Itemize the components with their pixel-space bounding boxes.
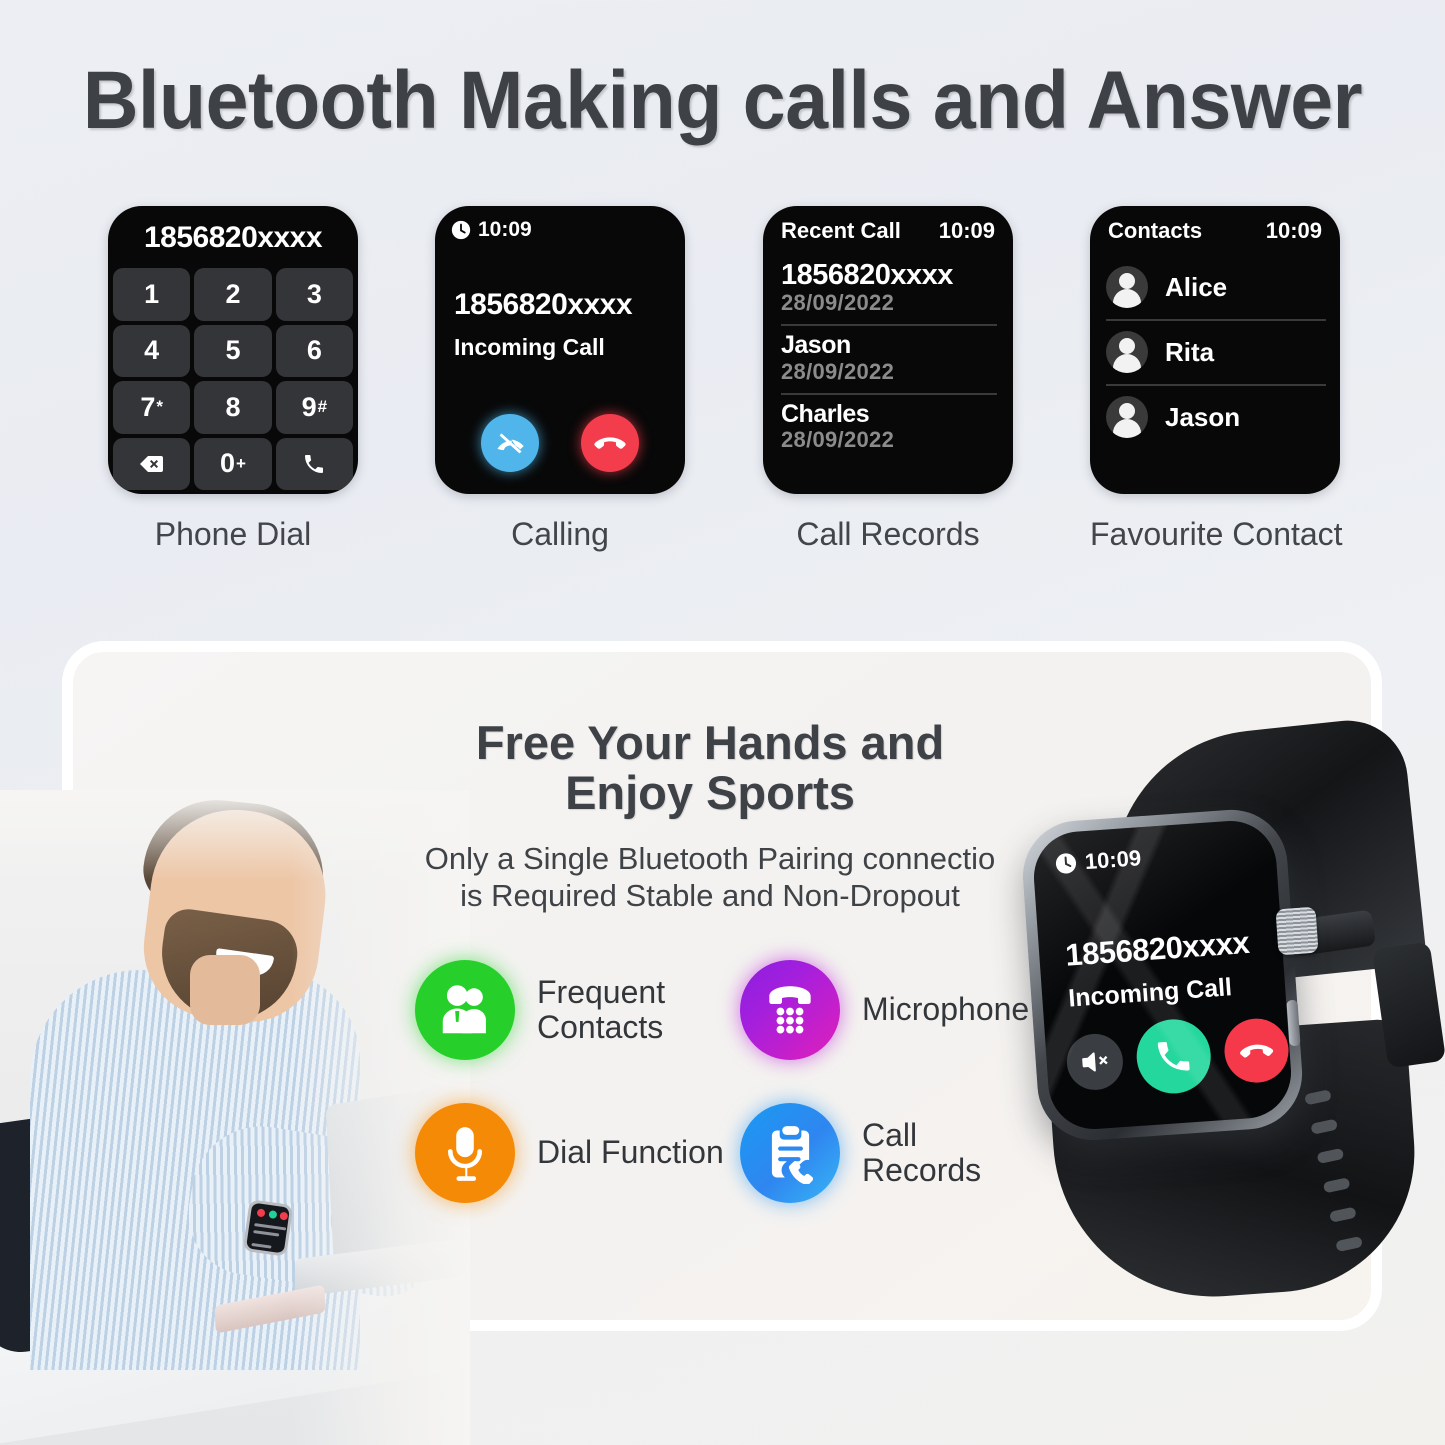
record-row[interactable]: 1856820xxxx 28/09/2022 [781, 254, 997, 326]
phone-muted-icon [493, 426, 527, 460]
record-date: 28/09/2022 [781, 427, 997, 453]
contact-name: Rita [1165, 337, 1214, 368]
avatar [1106, 266, 1148, 308]
key-4[interactable]: 4 [113, 325, 190, 378]
caption-calling: Calling [435, 516, 685, 553]
contacts-people-icon [434, 979, 496, 1041]
feature-label: Call Records [862, 1118, 981, 1188]
key-backspace[interactable] [113, 438, 190, 491]
record-name: Charles [781, 401, 997, 427]
screen-card-call-records: Recent Call 10:09 1856820xxxx 28/09/2022… [763, 206, 1013, 553]
key-sup: + [236, 454, 246, 474]
avatar [1106, 331, 1148, 373]
status-bar: 10:09 [1054, 845, 1142, 877]
watch-screen-contacts[interactable]: Contacts 10:09 Alice Rita Jason [1090, 206, 1340, 494]
key-label: 6 [307, 335, 322, 366]
panel-title: Free Your Hands and Enjoy Sports [350, 718, 1070, 818]
phone-hangup-icon [593, 426, 627, 460]
contacts-header: Contacts 10:09 [1108, 218, 1322, 244]
contact-name: Jason [1165, 402, 1240, 433]
speaker-mute-icon [1079, 1046, 1111, 1078]
watch-main-screen[interactable]: 10:09 1856820xxxx Incoming Call [1031, 818, 1294, 1132]
records-list[interactable]: 1856820xxxx 28/09/2022 Jason 28/09/2022 … [781, 254, 997, 461]
caption-phone-dial: Phone Dial [108, 516, 358, 553]
record-date: 28/09/2022 [781, 290, 997, 316]
feature-label: Frequent Contacts [537, 975, 665, 1045]
watch-side-button[interactable] [1286, 1000, 1300, 1047]
status-time: 10:09 [1084, 845, 1142, 875]
call-records-clipboard-icon [759, 1122, 821, 1184]
desk-telephone-icon [759, 979, 821, 1041]
key-6[interactable]: 6 [276, 325, 353, 378]
key-label: 8 [225, 392, 240, 423]
feature-dial-function: Dial Function [415, 1103, 724, 1203]
feature-microphone: Microphone [740, 960, 1029, 1060]
records-time: 10:09 [939, 218, 995, 244]
key-label: 2 [225, 279, 240, 310]
call-state-label: Incoming Call [1067, 973, 1233, 1013]
avatar [1106, 396, 1148, 438]
feature-call-records: Call Records [740, 1103, 981, 1203]
key-call[interactable] [276, 438, 353, 491]
caption-favourite-contact: Favourite Contact [1090, 516, 1340, 553]
watch-screen-call-records[interactable]: Recent Call 10:09 1856820xxxx 28/09/2022… [763, 206, 1013, 494]
screen-card-favourite-contact: Contacts 10:09 Alice Rita Jason Favourit… [1090, 206, 1340, 553]
desk-telephone-icon-badge [740, 960, 840, 1060]
key-label: 9 [302, 392, 317, 423]
key-label: 4 [144, 335, 159, 366]
clock-icon [451, 220, 471, 240]
records-title: Recent Call [781, 218, 901, 244]
decline-call-button[interactable] [1222, 1016, 1290, 1084]
status-time: 10:09 [478, 218, 532, 242]
microphone-icon-badge [415, 1103, 515, 1203]
watch-screen-dial[interactable]: 1856820xxxx 1 2 3 4 5 6 7* 8 9# 0+ [108, 206, 358, 494]
accept-call-button[interactable] [1134, 1017, 1213, 1096]
panel-subtitle: Only a Single Bluetooth Pairing connecti… [330, 840, 1090, 914]
contacts-list[interactable]: Alice Rita Jason [1106, 256, 1326, 449]
product-smartwatch: 10:09 1856820xxxx Incoming Call [1000, 700, 1445, 1325]
contacts-time: 10:09 [1266, 218, 1322, 244]
watch-crown[interactable] [1275, 907, 1318, 956]
key-5[interactable]: 5 [194, 325, 271, 378]
watch-case: 10:09 1856820xxxx Incoming Call [1019, 806, 1306, 1144]
backspace-icon [137, 452, 167, 476]
status-bar: 10:09 [451, 218, 532, 242]
key-label: 3 [307, 279, 322, 310]
contact-row[interactable]: Jason [1106, 386, 1326, 449]
key-label: 0 [220, 448, 235, 479]
screen-card-phone-dial: 1856820xxxx 1 2 3 4 5 6 7* 8 9# 0+ Phon [108, 206, 358, 553]
watch-screen-calling[interactable]: 10:09 1856820xxxx Incoming Call [435, 206, 685, 494]
key-label: 1 [144, 279, 159, 310]
key-0[interactable]: 0+ [194, 438, 271, 491]
key-7[interactable]: 7* [113, 381, 190, 434]
mute-call-button[interactable] [481, 414, 539, 472]
decline-call-button[interactable] [581, 414, 639, 472]
key-label: 7 [140, 392, 155, 423]
call-state-label: Incoming Call [454, 334, 605, 361]
contact-row[interactable]: Alice [1106, 256, 1326, 321]
key-1[interactable]: 1 [113, 268, 190, 321]
contacts-title: Contacts [1108, 218, 1202, 244]
key-9[interactable]: 9# [276, 381, 353, 434]
phone-icon [299, 452, 329, 476]
key-label: 5 [225, 335, 240, 366]
key-sup: # [318, 397, 327, 417]
screen-card-calling: 10:09 1856820xxxx Incoming Call Calling [435, 206, 685, 553]
feature-label: Dial Function [537, 1135, 724, 1170]
dialed-number: 1856820xxxx [108, 221, 358, 255]
caller-number: 1856820xxxx [1064, 925, 1250, 974]
microphone-icon [434, 1122, 496, 1184]
caller-number: 1856820xxxx [454, 288, 632, 322]
dial-keypad[interactable]: 1 2 3 4 5 6 7* 8 9# 0+ [113, 268, 353, 490]
key-8[interactable]: 8 [194, 381, 271, 434]
record-row[interactable]: Charles 28/09/2022 [781, 395, 997, 461]
feature-list: Frequent Contacts Microphone Dial Functi… [415, 960, 1055, 1220]
contact-row[interactable]: Rita [1106, 321, 1326, 386]
page-title: Bluetooth Making calls and Answer [43, 54, 1401, 148]
mute-button[interactable] [1065, 1032, 1125, 1092]
feature-screens-row: 1856820xxxx 1 2 3 4 5 6 7* 8 9# 0+ Phon [0, 206, 1445, 506]
caption-call-records: Call Records [763, 516, 1013, 553]
record-row[interactable]: Jason 28/09/2022 [781, 326, 997, 394]
records-header: Recent Call 10:09 [781, 218, 995, 244]
key-3[interactable]: 3 [276, 268, 353, 321]
contact-name: Alice [1165, 272, 1227, 303]
key-sup: * [156, 397, 163, 417]
call-records-clipboard-icon-badge [740, 1103, 840, 1203]
feature-frequent-contacts: Frequent Contacts [415, 960, 665, 1060]
record-name: Jason [781, 332, 997, 358]
clock-icon [1054, 852, 1077, 875]
record-date: 28/09/2022 [781, 359, 997, 385]
call-action-buttons [1064, 1011, 1291, 1100]
call-action-buttons [435, 414, 685, 472]
contacts-people-icon-badge [415, 960, 515, 1060]
phone-hangup-icon [1237, 1031, 1275, 1069]
phone-answer-icon [1152, 1035, 1195, 1078]
key-2[interactable]: 2 [194, 268, 271, 321]
record-name: 1856820xxxx [781, 260, 997, 290]
